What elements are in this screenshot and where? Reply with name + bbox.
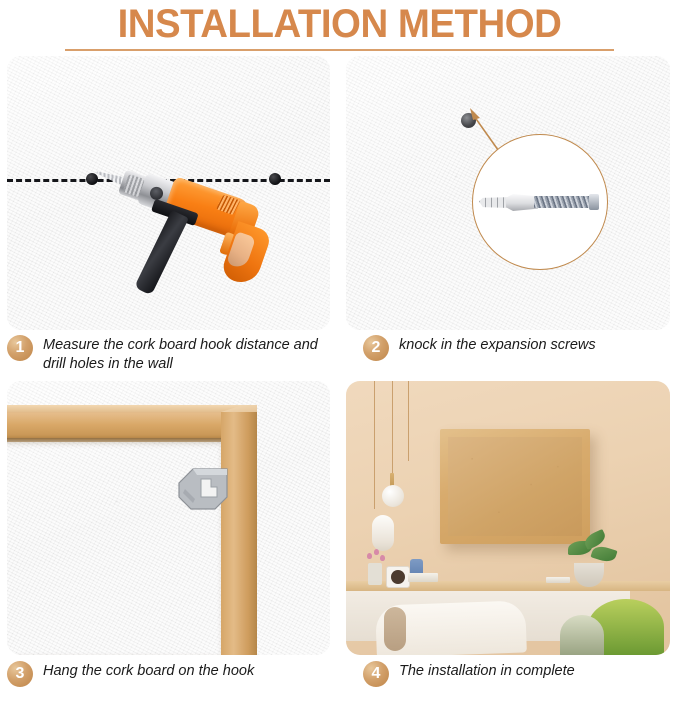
screw-thread-icon (534, 196, 592, 208)
mounted-cork-board (440, 429, 590, 544)
metal-keyhole-bracket-icon (171, 453, 233, 520)
step-1-cell: 1 Measure the cork board hook distance a… (0, 51, 339, 381)
cork-surface-icon (448, 437, 582, 536)
step-2-cell: 2 knock in the expansion screws (339, 51, 679, 381)
step-2-text: knock in the expansion screws (399, 333, 596, 355)
pendant-lamp-ball-icon (382, 485, 404, 507)
step-3-illustration (7, 381, 330, 655)
tulip-a-icon (367, 553, 372, 559)
step-4-text: The installation in complete (399, 659, 575, 681)
step-1-caption: 1 Measure the cork board hook distance a… (7, 333, 333, 374)
step-3-badge: 3 (7, 661, 33, 687)
step-4-badge: 4 (363, 661, 389, 687)
step-2-badge: 2 (363, 335, 389, 361)
step-1-text: Measure the cork board hook distance and… (43, 333, 333, 374)
stacked-books-icon (408, 573, 438, 582)
step-4-illustration (346, 381, 670, 655)
tulip-c-icon (380, 555, 385, 561)
step-3-cell: 3 Hang the cork board on the hook (0, 381, 339, 699)
clock-face-icon (391, 570, 405, 584)
desk-tray-icon (546, 577, 570, 583)
step-1-badge: 1 (7, 335, 33, 361)
desk-clock-icon (386, 566, 410, 588)
pendant-cord-right-icon (408, 381, 409, 461)
step-4-caption: 4 The installation in complete (363, 659, 673, 687)
page-title: INSTALLATION METHOD (14, 2, 666, 46)
step-3-caption: 3 Hang the cork board on the hook (7, 659, 333, 687)
step-3-text: Hang the cork board on the hook (43, 659, 254, 681)
pendant-lamp-cylinder-icon (372, 515, 394, 551)
step-2-illustration (346, 56, 670, 330)
step-1-illustration (7, 56, 330, 330)
screw-head-icon (589, 194, 599, 210)
paper-roll-core-icon (384, 607, 406, 651)
cork-board-back-icon (7, 381, 330, 655)
page-title-block: INSTALLATION METHOD (0, 0, 679, 51)
tulip-b-icon (374, 549, 379, 555)
frame-right-icon (221, 412, 257, 655)
pendant-cord-left-icon (374, 381, 375, 509)
frame-top-icon (7, 412, 255, 440)
steps-grid: 1 Measure the cork board hook distance a… (0, 51, 679, 699)
step-4-cell: 4 The installation in complete (339, 381, 679, 699)
expansion-screw-assembly-icon (479, 191, 603, 213)
step-2-caption: 2 knock in the expansion screws (363, 333, 673, 361)
dried-grass-icon (560, 615, 604, 655)
wall-anchor-icon (479, 194, 536, 211)
pendant-cord-mid-icon (392, 381, 393, 473)
flower-vase-icon (368, 563, 382, 585)
